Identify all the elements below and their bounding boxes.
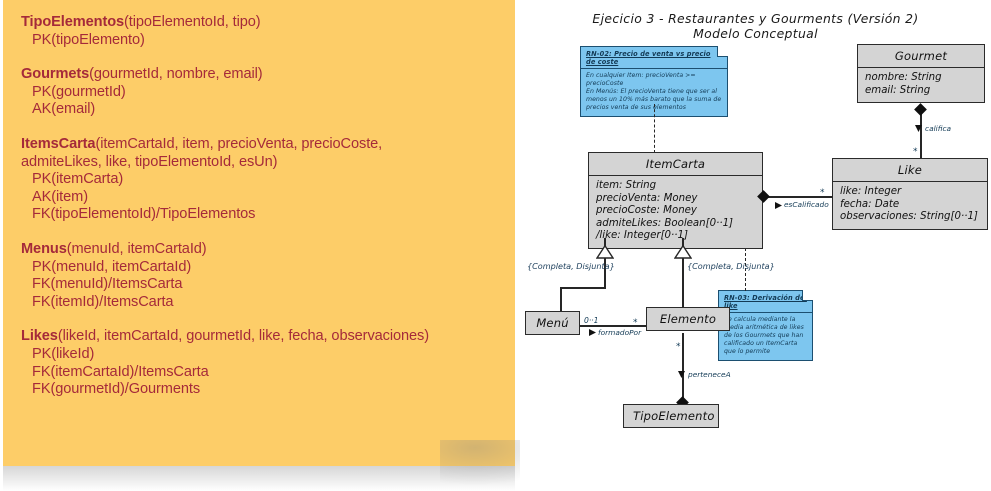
generalization-triangle-menu xyxy=(596,245,614,259)
attribute: item: String xyxy=(596,180,756,193)
table-name: Menus xyxy=(21,241,67,257)
table-signature: TipoElementos(tipoElementoId, tipo) xyxy=(21,14,515,32)
table-key: FK(gourmetId)/Gourments xyxy=(21,381,515,399)
attribute: admiteLikes: Boolean[0··1] xyxy=(596,218,756,231)
constraint-completa-disjunta-right: {Completa, Disjunta} xyxy=(687,261,775,271)
assoc-elemento-tipoelemento xyxy=(682,333,684,404)
table-signature: Gourmets(gourmetId, nombre, email) xyxy=(21,66,515,84)
table-key: AK(item) xyxy=(21,189,515,207)
attribute: fecha: Date xyxy=(840,199,981,212)
table-block-likes: Likes(likeId, itemCartaId, gourmetId, li… xyxy=(21,328,515,398)
assoc-label-califica: califica xyxy=(925,124,951,133)
class-attributes: nombre: String email: String xyxy=(858,68,984,102)
class-elemento[interactable]: Elemento xyxy=(646,307,730,331)
table-key: PK(gourmetId) xyxy=(21,84,515,102)
table-block-tipoelementos: TipoElementos(tipoElementoId, tipo) PK(t… xyxy=(21,14,515,49)
class-name: Gourmet xyxy=(858,45,984,68)
note-rn03: RN-03: Derivación del like Se calcula me… xyxy=(718,290,813,361)
assoc-label-escalificado: esCalificado xyxy=(784,200,829,209)
class-itemcarta[interactable]: ItemCarta item: String precioVenta: Mone… xyxy=(588,152,763,249)
gen-path-menu-h xyxy=(560,287,606,289)
gen-path-menu-v2 xyxy=(560,287,562,311)
class-attributes: item: String precioVenta: Money precioCo… xyxy=(589,176,762,248)
table-key: FK(itemCartaId)/ItemsCarta xyxy=(21,364,515,382)
table-key: PK(menuId, itemCartaId) xyxy=(21,259,515,277)
class-like[interactable]: Like like: Integer fecha: Date observaci… xyxy=(832,158,988,230)
class-name: Elemento xyxy=(647,308,729,330)
table-signature: Likes(likeId, itemCartaId, gourmetId, li… xyxy=(21,328,515,346)
navigation-arrow-formadopor xyxy=(588,328,597,337)
attribute: like: Integer xyxy=(840,186,981,199)
table-name: TipoElementos xyxy=(21,14,124,30)
table-name: Likes xyxy=(21,328,58,344)
attribute: /like: Integer[0··1] xyxy=(596,230,756,243)
table-key: PK(itemCarta) xyxy=(21,171,515,189)
class-name: TipoElemento xyxy=(624,405,718,427)
gen-stem-menu-top xyxy=(604,238,606,246)
assoc-gourmet-like xyxy=(920,110,922,158)
note-title: RN-02: Precio de venta vs precio de cost… xyxy=(581,47,727,69)
table-attributes: (tipoElementoId, tipo) xyxy=(124,14,261,30)
table-name: ItemsCarta xyxy=(21,136,95,152)
constraint-completa-disjunta-left: {Completa, Disjunta} xyxy=(527,261,615,271)
table-block-gourmets: Gourmets(gourmetId, nombre, email) PK(go… xyxy=(21,66,515,119)
table-block-itemscarta: ItemsCarta(itemCartaId, item, precioVent… xyxy=(21,136,515,224)
table-block-menus: Menus(menuId, itemCartaId) PK(menuId, it… xyxy=(21,241,515,311)
class-name: ItemCarta xyxy=(589,153,762,176)
class-name: Menú xyxy=(526,312,579,334)
table-signature: Menus(menuId, itemCartaId) xyxy=(21,241,515,259)
multiplicity-elemento-right: * xyxy=(633,320,638,326)
table-key: FK(itemId)/ItemsCarta xyxy=(21,294,515,312)
table-key: FK(menuId)/ItemsCarta xyxy=(21,276,515,294)
note-dogear-icon xyxy=(717,46,728,57)
diagram-title-line1: Ejecicio 3 - Restaurantes y Gourments (V… xyxy=(520,11,991,26)
note-title: RN-03: Derivación del like xyxy=(719,291,812,313)
gen-stem-elemento-top xyxy=(682,238,684,246)
table-signature: ItemsCarta(itemCartaId, item, precioVent… xyxy=(21,136,515,171)
note-dogear-icon xyxy=(802,290,813,301)
multiplicity-elemento-bottom: * xyxy=(676,344,681,350)
class-menu[interactable]: Menú xyxy=(525,311,580,335)
panel-drop-shadow xyxy=(3,466,515,491)
table-key: PK(likeId) xyxy=(21,346,515,364)
table-name: Gourmets xyxy=(21,66,89,82)
relational-schema-panel: TipoElementos(tipoElementoId, tipo) PK(t… xyxy=(3,0,515,466)
screenshot-root: TipoElementos(tipoElementoId, tipo) PK(t… xyxy=(0,0,991,491)
table-key: PK(tipoElemento) xyxy=(21,32,515,50)
table-attributes: (gourmetId, nombre, email) xyxy=(89,66,262,82)
class-attributes: like: Integer fecha: Date observaciones:… xyxy=(833,182,987,229)
attribute: email: String xyxy=(865,85,978,98)
navigation-arrow-califica xyxy=(914,124,923,133)
attribute: nombre: String xyxy=(865,72,978,85)
navigation-arrow-escalificado xyxy=(774,201,783,210)
table-attributes: (likeId, itemCartaId, gourmetId, like, f… xyxy=(58,328,429,344)
note-body: Se calcula mediante la media aritmética … xyxy=(719,313,812,360)
attribute: precioCoste: Money xyxy=(596,205,756,218)
multiplicity-like-gourmet: * xyxy=(913,149,918,155)
multiplicity-menu-elemento: 0··1 xyxy=(584,316,599,325)
generalization-triangle-elemento xyxy=(674,245,692,259)
multiplicity-like-item: * xyxy=(820,190,825,196)
table-key: AK(email) xyxy=(21,101,515,119)
table-attributes: (menuId, itemCartaId) xyxy=(67,241,207,257)
attribute: observaciones: String[0··1] xyxy=(840,211,981,224)
class-tipoelemento[interactable]: TipoElemento xyxy=(623,404,719,428)
gen-path-elemento xyxy=(682,258,684,308)
attribute: precioVenta: Money xyxy=(596,193,756,206)
navigation-arrow-pertenecea xyxy=(677,370,686,379)
uml-class-diagram: Ejecicio 3 - Restaurantes y Gourments (V… xyxy=(520,0,991,491)
table-key: FK(tipoElementoId)/TipoElementos xyxy=(21,206,515,224)
assoc-label-formadopor: formadoPor xyxy=(598,328,641,337)
note-link-rn02 xyxy=(654,104,655,153)
assoc-label-pertenecea: perteneceA xyxy=(688,370,731,379)
class-name: Like xyxy=(833,159,987,182)
class-gourmet[interactable]: Gourmet nombre: String email: String xyxy=(857,44,985,103)
composition-diamond-gourmet xyxy=(914,103,927,116)
diagram-title-line2: Modelo Conceptual xyxy=(520,26,991,41)
